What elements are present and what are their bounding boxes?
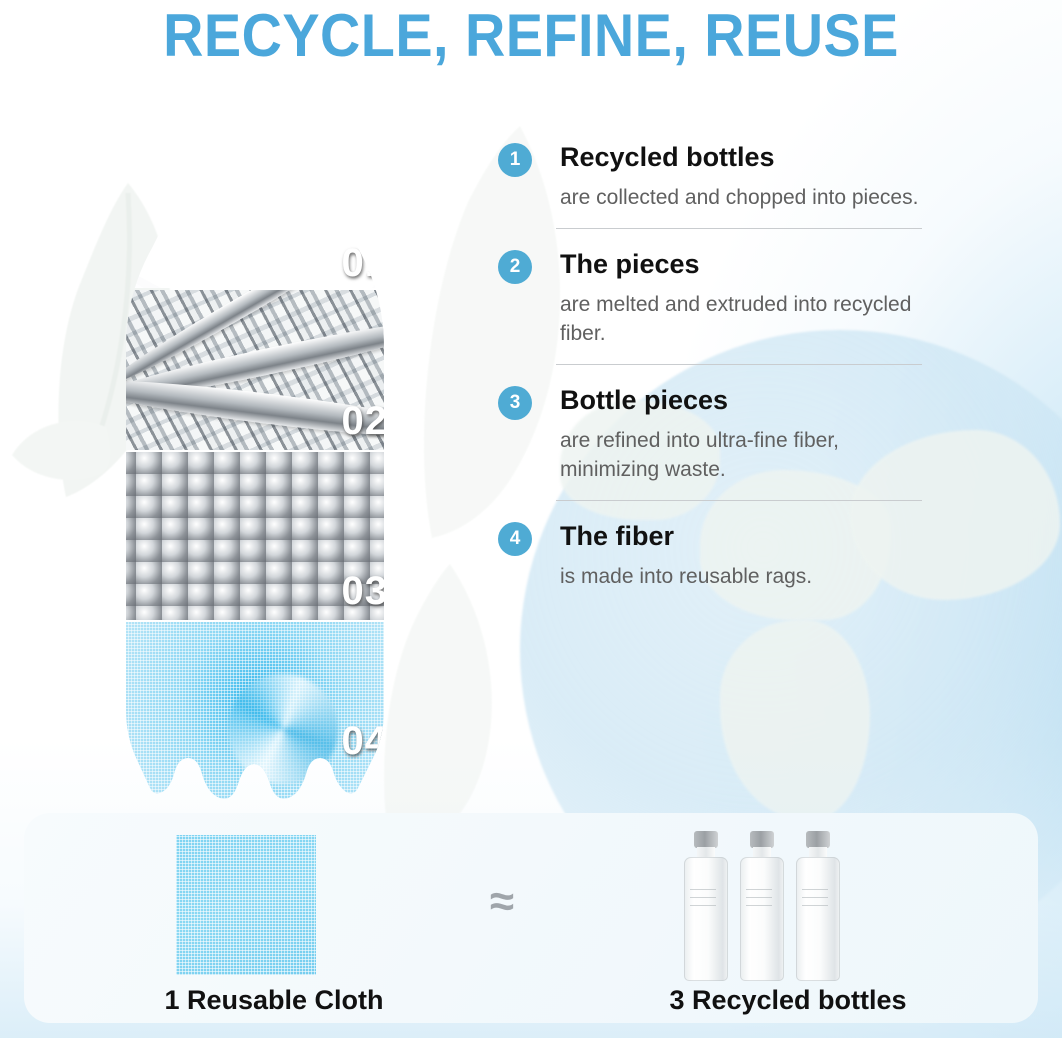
bottle-rib (802, 889, 828, 890)
step-heading: Recycled bottles (560, 140, 938, 174)
bottle-band-number: 01 (342, 241, 389, 286)
step-item-3: 3 Bottle pieces are refined into ultra-f… (498, 383, 938, 501)
bottle-rib (690, 897, 716, 898)
mini-bottle (734, 831, 790, 981)
step-badge-2: 2 (498, 250, 532, 284)
step-body: are collected and chopped into pieces. (560, 183, 938, 212)
infographic-root: RECYCLE, REFINE, REUSE 01 02 (0, 0, 1062, 1038)
cloth-swirl (228, 674, 338, 784)
bottle-band-01: 01 (110, 98, 410, 288)
bottle-rib (802, 897, 828, 898)
step-badge-4: 4 (498, 522, 532, 556)
step-badge-1: 1 (498, 143, 532, 177)
equivalence-left-label: 1 Reusable Cloth (24, 985, 524, 1016)
continent-shape-africa (720, 620, 870, 820)
bottle-body (740, 857, 784, 981)
bottle-rib (746, 905, 772, 906)
bottle-band-number: 02 (342, 399, 389, 444)
bottle-cap-icon (750, 831, 774, 848)
bottle-body (684, 857, 728, 981)
equivalence-right-label: 3 Recycled bottles (538, 985, 1038, 1016)
step-badge-3: 3 (498, 386, 532, 420)
mini-bottle (790, 831, 846, 981)
bottle-rib (802, 905, 828, 906)
step-heading: The fiber (560, 519, 938, 553)
step-item-2: 2 The pieces are melted and extruded int… (498, 247, 938, 365)
steps-list: 1 Recycled bottles are collected and cho… (498, 140, 938, 591)
bottle-rib (690, 905, 716, 906)
bottle-cap-icon (806, 831, 830, 848)
approximately-equals-icon: ≈ (472, 880, 532, 924)
step-item-4: 4 The fiber is made into reusable rags. (498, 519, 938, 591)
step-body: are refined into ultra-fine fiber, minim… (560, 426, 938, 484)
bottle-rib (746, 897, 772, 898)
bottle-band-number: 03 (342, 569, 389, 614)
step-body: are melted and extruded into recycled fi… (560, 290, 938, 348)
texture-crushed-plastic (110, 98, 410, 288)
step-body: is made into reusable rags. (560, 562, 938, 591)
step-divider (556, 364, 922, 365)
bottle-body (796, 857, 840, 981)
cloth-swatch (176, 835, 316, 975)
step-item-1: 1 Recycled bottles are collected and cho… (498, 140, 938, 229)
mini-bottle (678, 831, 734, 981)
step-heading: Bottle pieces (560, 383, 938, 417)
texture-microfiber-cloth (110, 622, 410, 808)
bottle-rib (690, 889, 716, 890)
step-divider (556, 228, 922, 229)
equivalence-left: 1 Reusable Cloth (24, 813, 524, 1023)
bottle-rib (746, 889, 772, 890)
bottle-illustration: 01 02 03 04 (110, 98, 410, 798)
bottle-band-03: 03 (110, 452, 410, 620)
step-heading: The pieces (560, 247, 938, 281)
equivalence-right: 3 Recycled bottles (538, 813, 1038, 1023)
bottle-band-02: 02 (110, 290, 410, 450)
recycled-bottles-group (678, 831, 898, 981)
bottle-band-number: 04 (342, 719, 389, 764)
page-title: RECYCLE, REFINE, REUSE (37, 4, 1025, 68)
bottle-cap-icon (694, 831, 718, 848)
bottle-band-04: 04 (110, 622, 410, 808)
step-divider (556, 500, 922, 501)
